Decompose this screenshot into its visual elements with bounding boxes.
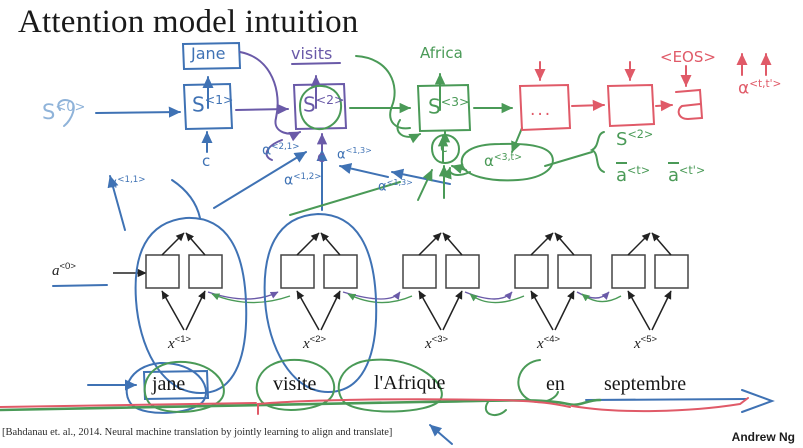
forward-arrow-overline: a (616, 162, 627, 186)
decoder-initial-state-label: S<0> (42, 100, 85, 124)
alpha-symbol: α (284, 173, 293, 189)
activation-letter: a (668, 165, 679, 186)
input-superscript: <5> (641, 334, 657, 345)
encoder-input-label-3: x<3> (425, 334, 448, 353)
alpha-superscript: <1,3> (346, 146, 372, 155)
slide-canvas: Attention model intuition (0, 0, 803, 448)
decoder-output-jane: Jane (191, 44, 226, 63)
attention-weight-general: α<t,t'> (738, 78, 781, 99)
decoder-state-1-label: S<1> (192, 92, 233, 117)
source-word-4: en (546, 373, 565, 396)
alpha-symbol: α (378, 179, 387, 194)
encoder-input-label-4: x<4> (537, 334, 560, 353)
attention-weight-1-1: α<1,1> (108, 175, 146, 192)
state-letter: S (303, 93, 316, 117)
activation-letter: a (52, 263, 60, 279)
attention-weight-1-3-alt: α<1,3> (378, 178, 413, 194)
decoder-state-3-label: S<3> (428, 94, 469, 119)
input-superscript: <2> (310, 334, 326, 345)
input-letter: x (168, 336, 175, 352)
alpha-superscript: <1,3> (387, 178, 413, 187)
encoder-initial-activation-label: a<0> (52, 261, 76, 280)
activation-letter: a (616, 165, 627, 186)
alpha-superscript: <3,t> (494, 152, 522, 163)
alpha-symbol: α (337, 147, 346, 162)
attention-weight-1-3: α<1,3> (337, 146, 372, 162)
byline: Andrew Ng (732, 430, 795, 444)
context-circle-label: c (440, 140, 448, 156)
encoder-input-label-2: x<2> (303, 334, 326, 353)
brace-note-state: S<2> (616, 128, 653, 150)
eos-label: <EOS> (660, 48, 716, 66)
context-label-2: c (317, 148, 325, 166)
alpha-symbol: α (484, 152, 494, 170)
input-superscript: <3> (432, 334, 448, 345)
state-letter: S (616, 129, 627, 150)
alpha-superscript: <2,1> (271, 142, 299, 152)
attention-weight-3-t: α<3,t> (484, 152, 522, 170)
brace-note-backward-activation: a<t'> (668, 164, 705, 186)
state-letter: S (428, 95, 441, 119)
state-superscript: <2> (316, 92, 345, 107)
alpha-symbol: α (262, 143, 271, 159)
input-superscript: <1> (175, 334, 191, 345)
input-superscript: <4> (544, 334, 560, 345)
state-letter: S (192, 93, 205, 117)
backward-arrow-overline: a (668, 162, 679, 186)
input-letter: x (634, 336, 641, 352)
activation-superscript: <t> (627, 164, 650, 177)
source-word-5: septembre (604, 373, 686, 396)
input-letter: x (537, 336, 544, 352)
decoder-output-visits: visits (291, 44, 332, 63)
input-letter: x (303, 336, 310, 352)
encoder-input-label-1: x<1> (168, 334, 191, 353)
activation-superscript: <t'> (679, 164, 705, 177)
alpha-superscript: <1,2> (293, 172, 321, 182)
alpha-symbol: α (738, 79, 749, 99)
state-superscript: <1> (205, 92, 234, 107)
context-label-1: c (202, 152, 210, 170)
state-letter: S (42, 100, 55, 124)
brace-note-forward-activation: a<t> (616, 164, 650, 186)
activation-superscript: <0> (60, 261, 76, 272)
citation: [Bahdanau et. al., 2014. Neural machine … (2, 427, 392, 438)
decoder-ellipsis-box-label: ... (530, 100, 552, 120)
state-superscript: <2> (627, 128, 653, 141)
attention-weight-1-2: α<1,2> (284, 172, 322, 189)
alpha-symbol: α (108, 176, 117, 192)
source-word-3: l'Afrique (374, 372, 445, 395)
source-word-1: jane (152, 373, 185, 396)
attention-weight-2-1: α<2,1> (262, 142, 300, 159)
alpha-superscript: <t,t'> (749, 78, 781, 90)
source-word-2: visite (273, 373, 316, 396)
decoder-output-africa: Africa (420, 44, 463, 62)
input-letter: x (425, 336, 432, 352)
state-superscript: <3> (441, 94, 470, 109)
alpha-superscript: <1,1> (117, 175, 145, 185)
state-superscript: <0> (55, 100, 85, 115)
decoder-state-2-label: S<2> (303, 92, 344, 117)
encoder-input-label-5: x<5> (634, 334, 657, 353)
